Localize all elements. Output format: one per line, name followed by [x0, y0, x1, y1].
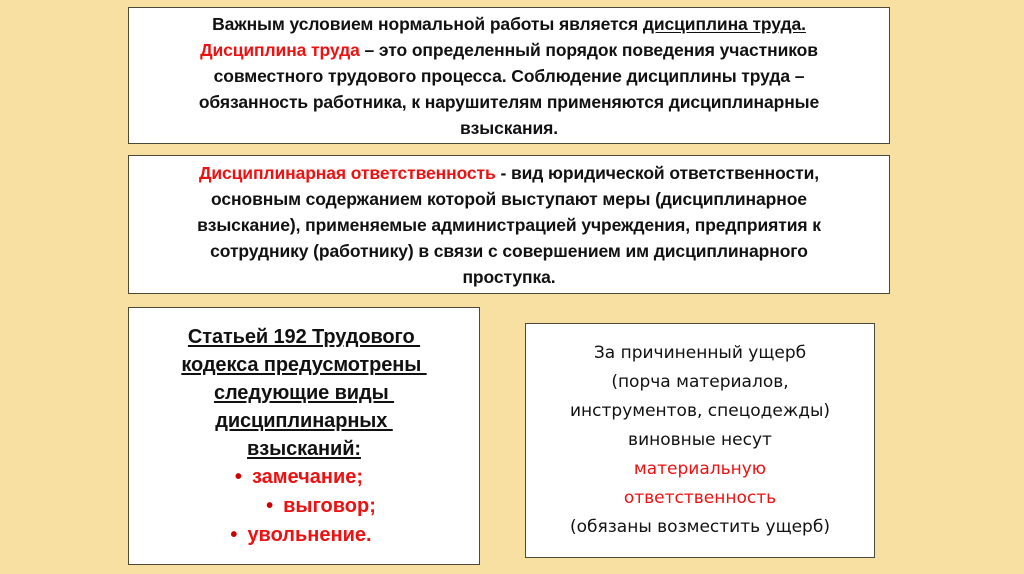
slide-canvas: Важным условием нормальной работы являет… [0, 0, 1024, 574]
definition-line-2-highlight: Дисциплина труда [200, 40, 360, 60]
list-item-punct: . [366, 524, 372, 546]
material-line-4: виновные несут [536, 426, 864, 455]
definition-line-1: Важным условием нормальной работы являет… [139, 11, 879, 37]
bullet-icon: • [235, 466, 242, 488]
article-heading-line-4: дисциплинарных [139, 407, 469, 435]
list-item: •увольнение. [136, 521, 472, 550]
article-heading-line-3: следующие виды [139, 379, 469, 407]
list-item-punct: ; [356, 466, 363, 488]
article-heading-line-5: взысканий: [139, 435, 469, 463]
liability-line-1: Дисциплинарная ответственность - вид юри… [139, 160, 879, 186]
list-item-label: увольнение [247, 524, 366, 546]
material-line-2: (порча материалов, [536, 368, 864, 397]
liability-line-1-highlight: Дисциплинарная ответственность [199, 163, 496, 183]
definition-line-4: обязанность работника, к нарушителям при… [139, 89, 879, 115]
liability-line-2: основным содержанием которой выступают м… [139, 186, 879, 212]
liability-line-4: сотруднику (работнику) в связи с соверше… [139, 238, 879, 264]
liability-line-1-text: - вид юридической ответственности, [496, 163, 819, 183]
definition-line-3: совместного трудового процесса. Соблюден… [139, 63, 879, 89]
material-line-6-highlight: ответственность [536, 484, 864, 513]
list-item-label: замечание [252, 466, 356, 488]
material-line-1: За причиненный ущерб [536, 339, 864, 368]
definition-line-1-text: Важным условием нормальной работы являет… [212, 14, 643, 34]
list-item: •замечание; [134, 463, 474, 492]
list-item-punct: ; [369, 495, 376, 517]
material-line-5-highlight: материальную [536, 455, 864, 484]
liability-line-3: взыскание), применяемые администрацией у… [139, 212, 879, 238]
list-item: •выговор; [122, 492, 486, 521]
list-item-label: выговор [283, 495, 369, 517]
text-box-disciplinary-liability: Дисциплинарная ответственность - вид юри… [128, 155, 890, 294]
article-heading-line-2: кодекса предусмотрены [139, 351, 469, 379]
definition-line-1-underlined: дисциплина труда. [643, 14, 806, 34]
text-box-discipline-definition: Важным условием нормальной работы являет… [128, 7, 890, 144]
definition-line-5: взыскания. [139, 115, 879, 141]
material-line-3: инструментов, спецодежды) [536, 397, 864, 426]
text-box-article-192: Статьей 192 Трудового кодекса предусмотр… [128, 307, 480, 565]
bullet-icon: • [230, 524, 237, 546]
liability-line-5: проступка. [139, 264, 879, 290]
material-line-7: (обязаны возместить ущерб) [536, 513, 864, 542]
bullet-icon: • [266, 495, 273, 517]
definition-line-2-text: – это определенный порядок поведения уча… [360, 40, 818, 60]
definition-line-2: Дисциплина труда – это определенный поря… [139, 37, 879, 63]
text-box-material-liability: За причиненный ущерб (порча материалов, … [525, 323, 875, 558]
article-heading-line-1: Статьей 192 Трудового [139, 323, 469, 351]
